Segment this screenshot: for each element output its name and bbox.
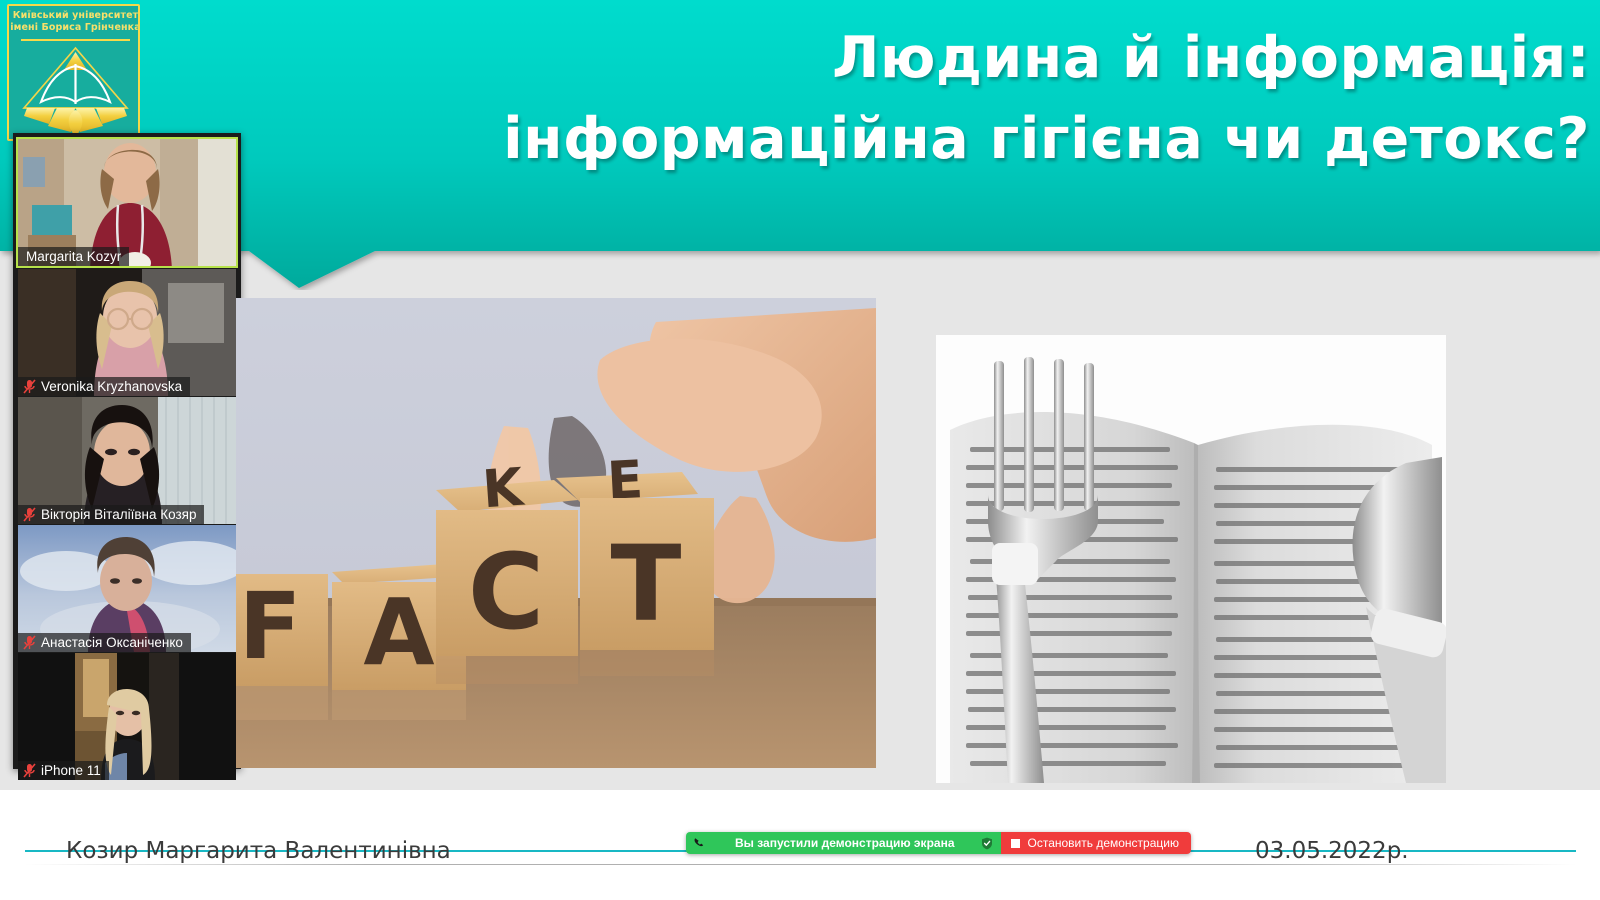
screen-share-status[interactable]: Вы запустили демонстрацию экрана	[686, 832, 1001, 854]
footer-author: Козир Маргарита Валентинівна	[66, 838, 451, 864]
video-tile-1[interactable]: Veronika Kryzhanovska	[18, 269, 236, 396]
svg-text:F: F	[239, 573, 302, 680]
svg-text:T: T	[611, 523, 682, 645]
zoom-video-filmstrip[interactable]: Margarita Kozyr	[13, 133, 241, 769]
participant-name-0: Margarita Kozyr	[26, 249, 121, 264]
mic-muted-icon	[23, 763, 36, 778]
participant-name-badge-2: Вікторія Віталіївна Козяр	[18, 505, 204, 524]
screen-share-status-label: Вы запустили демонстрацию экрана	[735, 836, 955, 850]
phone-icon	[693, 837, 705, 849]
shield-icon[interactable]	[981, 837, 993, 850]
svg-text:A: A	[363, 579, 434, 686]
video-tile-0[interactable]: Margarita Kozyr	[16, 137, 238, 268]
page-title: Людина й інформація: інформаційна гігієн…	[330, 18, 1590, 180]
logo-text-line-2: імені Бориса Грінченка	[9, 22, 140, 34]
video-tile-3[interactable]: Анастасія Оксаніченко	[18, 525, 236, 652]
logo-divider	[21, 39, 130, 41]
stop-share-button[interactable]: Остановить демонстрацию	[1001, 832, 1191, 854]
svg-text:C: C	[468, 531, 544, 653]
footer-date: 03.05.2022р.	[1255, 838, 1409, 864]
logo-text: Київський університет імені Бориса Грінч…	[9, 10, 140, 34]
participant-name-3: Анастасія Оксаніченко	[41, 635, 183, 650]
video-tile-4[interactable]: iPhone 11	[18, 653, 236, 780]
title-line-2: інформаційна гігієна чи детокс?	[330, 99, 1590, 180]
stop-square-icon	[1011, 839, 1020, 848]
presentation-slide: Людина й інформація: інформаційна гігієн…	[0, 0, 1600, 900]
participant-name-badge-1: Veronika Kryzhanovska	[18, 377, 190, 396]
logo-text-line-1: Київський університет	[9, 10, 140, 22]
book-with-cutlery-image	[936, 335, 1446, 783]
footer-divider-grey	[25, 864, 1576, 865]
university-logo: Київський університет імені Бориса Грінч…	[7, 4, 140, 141]
participant-name-4: iPhone 11	[41, 763, 101, 778]
fact-fake-blocks-image: F A K C E T	[236, 298, 876, 768]
stop-share-label: Остановить демонстрацию	[1028, 836, 1179, 850]
mic-muted-icon	[23, 635, 36, 650]
participant-name-badge-0: Margarita Kozyr	[18, 247, 129, 266]
mic-muted-icon	[23, 379, 36, 394]
title-line-1: Людина й інформація:	[330, 18, 1590, 99]
open-book-pyramid-emblem-icon	[15, 42, 136, 140]
mic-muted-icon	[23, 507, 36, 522]
participant-name-1: Veronika Kryzhanovska	[41, 379, 182, 394]
video-tile-2[interactable]: Вікторія Віталіївна Козяр	[18, 397, 236, 524]
participant-name-2: Вікторія Віталіївна Козяр	[41, 507, 196, 522]
participant-name-badge-3: Анастасія Оксаніченко	[18, 633, 191, 652]
participant-name-badge-4: iPhone 11	[18, 761, 109, 780]
screen-share-toolbar[interactable]: Вы запустили демонстрацию экрана Останов…	[686, 832, 1191, 854]
